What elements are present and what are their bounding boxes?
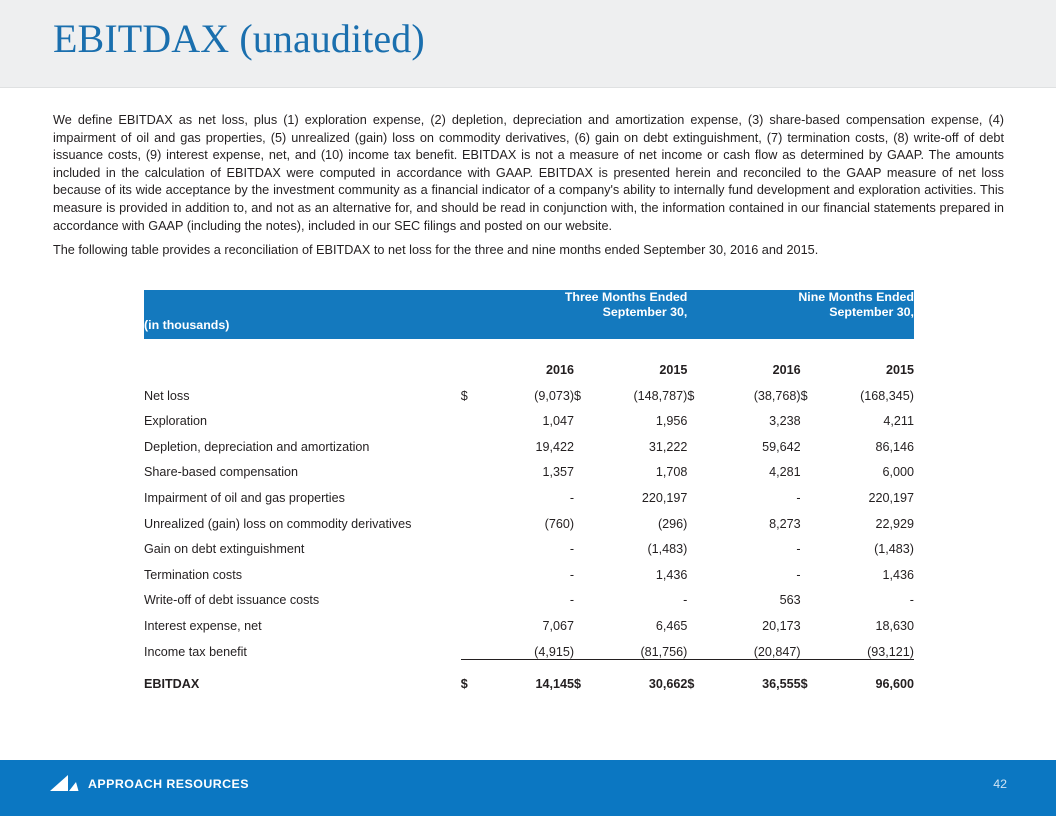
currency-symbol: $ [801, 377, 831, 403]
row-value: (93,121) [831, 633, 914, 659]
table-row: Impairment of oil and gas properties-220… [144, 479, 914, 505]
currency-symbol [801, 531, 831, 557]
row-value: (1,483) [831, 531, 914, 557]
row-value: - [717, 556, 800, 582]
currency-symbol [801, 633, 831, 659]
mountain-logo-icon [49, 773, 79, 793]
units-label: (in thousands) [144, 290, 461, 339]
table-intro-paragraph: The following table provides a reconcili… [53, 242, 1004, 260]
currency-symbol [687, 454, 717, 480]
currency-symbol [687, 531, 717, 557]
row-value: - [717, 479, 800, 505]
year-header-2015-three-months: 2015 [604, 339, 687, 377]
currency-symbol [801, 556, 831, 582]
year-header-dollar-spacer-2 [574, 339, 604, 377]
row-value: 20,173 [717, 607, 800, 633]
group-header-three-months-line2: September 30, [603, 305, 688, 319]
currency-symbol [801, 428, 831, 454]
row-value: 4,211 [831, 403, 914, 429]
row-value: (9,073) [491, 377, 574, 403]
year-header-dollar-spacer-4 [801, 339, 831, 377]
row-value: 4,281 [717, 454, 800, 480]
group-header-nine-months-line1: Nine Months Ended [798, 290, 914, 304]
currency-symbol: $ [574, 377, 604, 403]
table-row: Termination costs-1,436-1,436 [144, 556, 914, 582]
currency-symbol [801, 454, 831, 480]
table-row: Write-off of debt issuance costs--563- [144, 582, 914, 608]
row-value: 1,047 [491, 403, 574, 429]
row-value: 59,642 [717, 428, 800, 454]
year-header-dollar-spacer-3 [687, 339, 717, 377]
row-value: 8,273 [717, 505, 800, 531]
currency-symbol [461, 428, 491, 454]
currency-symbol [461, 556, 491, 582]
table-row: Net loss$(9,073)$(148,787)$(38,768)$(168… [144, 377, 914, 403]
row-label: Unrealized (gain) loss on commodity deri… [144, 505, 461, 531]
currency-symbol [461, 633, 491, 659]
row-value: 220,197 [604, 479, 687, 505]
currency-symbol: $ [574, 659, 604, 691]
currency-symbol [801, 607, 831, 633]
row-value: 7,067 [491, 607, 574, 633]
table-row: Interest expense, net7,0676,46520,17318,… [144, 607, 914, 633]
table-row: Depletion, depreciation and amortization… [144, 428, 914, 454]
page-title: EBITDAX (unaudited) [53, 15, 425, 62]
row-value: 86,146 [831, 428, 914, 454]
table-row: Income tax benefit(4,915)(81,756)(20,847… [144, 633, 914, 659]
currency-symbol: $ [461, 659, 491, 691]
page-number: 42 [993, 777, 1007, 791]
row-value: (20,847) [717, 633, 800, 659]
table-row: Exploration1,0471,9563,2384,211 [144, 403, 914, 429]
row-label: Impairment of oil and gas properties [144, 479, 461, 505]
table-year-header-row: 2016 2015 2016 2015 [144, 339, 914, 377]
currency-symbol [574, 531, 604, 557]
row-value: 96,600 [831, 659, 914, 691]
row-label: EBITDAX [144, 659, 461, 691]
row-label: Net loss [144, 377, 461, 403]
currency-symbol [461, 607, 491, 633]
row-value: 3,238 [717, 403, 800, 429]
row-label: Gain on debt extinguishment [144, 531, 461, 557]
currency-symbol: $ [461, 377, 491, 403]
currency-symbol: $ [687, 377, 717, 403]
row-value: - [831, 582, 914, 608]
row-value: 30,662 [604, 659, 687, 691]
currency-symbol: $ [801, 659, 831, 691]
group-header-nine-months-line2: September 30, [829, 305, 914, 319]
row-value: - [491, 531, 574, 557]
table-row: Gain on debt extinguishment-(1,483)-(1,4… [144, 531, 914, 557]
row-label: Interest expense, net [144, 607, 461, 633]
currency-symbol [461, 582, 491, 608]
row-value: - [491, 582, 574, 608]
table-total-row: EBITDAX$14,145$30,662$36,555$96,600 [144, 659, 914, 691]
currency-symbol [461, 403, 491, 429]
financial-table: (in thousands) Three Months Ended Septem… [144, 290, 914, 691]
row-value: 6,465 [604, 607, 687, 633]
currency-symbol [574, 454, 604, 480]
currency-symbol [687, 556, 717, 582]
row-value: - [604, 582, 687, 608]
currency-symbol: $ [687, 659, 717, 691]
row-value: 1,436 [604, 556, 687, 582]
table-row: Share-based compensation1,3571,7084,2816… [144, 454, 914, 480]
row-value: 563 [717, 582, 800, 608]
row-value: 1,436 [831, 556, 914, 582]
currency-symbol [574, 607, 604, 633]
currency-symbol [687, 633, 717, 659]
currency-symbol [461, 479, 491, 505]
row-label: Termination costs [144, 556, 461, 582]
row-value: (148,787) [604, 377, 687, 403]
currency-symbol [687, 479, 717, 505]
row-value: 14,145 [491, 659, 574, 691]
currency-symbol [461, 531, 491, 557]
year-header-spacer [144, 339, 461, 377]
currency-symbol [687, 582, 717, 608]
row-value: 1,357 [491, 454, 574, 480]
currency-symbol [574, 556, 604, 582]
definition-paragraph: We define EBITDAX as net loss, plus (1) … [53, 112, 1004, 235]
year-header-2016-nine-months: 2016 [717, 339, 800, 377]
currency-symbol [687, 607, 717, 633]
row-value: 22,929 [831, 505, 914, 531]
currency-symbol [574, 505, 604, 531]
row-label: Income tax benefit [144, 633, 461, 659]
row-label: Share-based compensation [144, 454, 461, 480]
table-header-bar: (in thousands) Three Months Ended Septem… [144, 290, 914, 339]
year-header-2015-nine-months: 2015 [831, 339, 914, 377]
row-value: 220,197 [831, 479, 914, 505]
row-label: Write-off of debt issuance costs [144, 582, 461, 608]
row-value: (81,756) [604, 633, 687, 659]
row-value: 36,555 [717, 659, 800, 691]
currency-symbol [801, 479, 831, 505]
currency-symbol [801, 582, 831, 608]
row-label: Depletion, depreciation and amortization [144, 428, 461, 454]
currency-symbol [687, 403, 717, 429]
row-value: (4,915) [491, 633, 574, 659]
table-row: Unrealized (gain) loss on commodity deri… [144, 505, 914, 531]
group-header-nine-months: Nine Months Ended September 30, [687, 290, 914, 339]
row-value: (168,345) [831, 377, 914, 403]
row-value: 1,956 [604, 403, 687, 429]
row-value: - [717, 531, 800, 557]
year-header-dollar-spacer-1 [461, 339, 491, 377]
group-header-three-months: Three Months Ended September 30, [461, 290, 688, 339]
row-value: 18,630 [831, 607, 914, 633]
row-label: Exploration [144, 403, 461, 429]
row-value: (38,768) [717, 377, 800, 403]
currency-symbol [574, 479, 604, 505]
row-value: - [491, 479, 574, 505]
row-value: - [491, 556, 574, 582]
currency-symbol [574, 633, 604, 659]
currency-symbol [801, 505, 831, 531]
row-value: (760) [491, 505, 574, 531]
currency-symbol [801, 403, 831, 429]
row-value: 6,000 [831, 454, 914, 480]
row-value: (1,483) [604, 531, 687, 557]
currency-symbol [574, 582, 604, 608]
currency-symbol [574, 428, 604, 454]
currency-symbol [461, 454, 491, 480]
row-value: 1,708 [604, 454, 687, 480]
ebitdax-reconciliation-table: (in thousands) Three Months Ended Septem… [144, 290, 914, 691]
year-header-2016-three-months: 2016 [491, 339, 574, 377]
currency-symbol [687, 428, 717, 454]
row-value: 31,222 [604, 428, 687, 454]
group-header-three-months-line1: Three Months Ended [565, 290, 688, 304]
company-name: APPROACH RESOURCES [88, 777, 249, 791]
row-value: 19,422 [491, 428, 574, 454]
currency-symbol [461, 505, 491, 531]
currency-symbol [687, 505, 717, 531]
row-value: (296) [604, 505, 687, 531]
currency-symbol [574, 403, 604, 429]
